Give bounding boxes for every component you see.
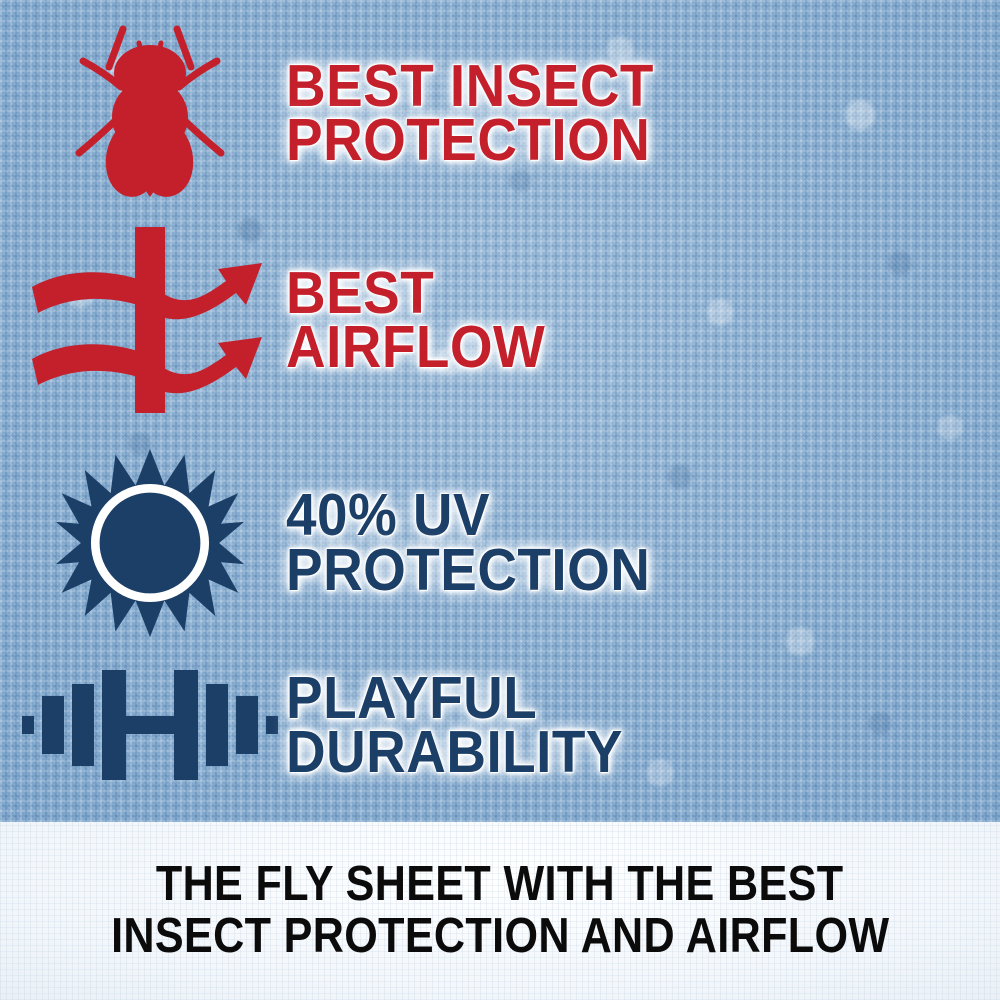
airflow-arrows-icon: [30, 225, 270, 415]
feature-text-cell: 40% UV PROTECTION: [286, 488, 678, 597]
feature-headline-line2: DURABILITY: [286, 725, 623, 779]
feature-headline-line2: PROTECTION: [286, 543, 650, 597]
feature-row-insect-protection: BEST INSECT PROTECTION: [0, 18, 1000, 208]
feature-row-best-airflow: BEST AIRFLOW: [0, 222, 1000, 418]
feature-headline-line2: AIRFLOW: [286, 320, 545, 374]
feature-headline-line1: BEST: [286, 266, 545, 320]
feature-text-cell: PLAYFUL DURABILITY: [286, 671, 648, 780]
bottom-tagline-banner: THE FLY SHEET WITH THE BEST INSECT PROTE…: [0, 822, 1000, 1000]
feature-icon-cell: [0, 21, 300, 206]
sun-burst-icon: [54, 447, 246, 639]
dumbbell-icon: [20, 666, 280, 784]
product-feature-infographic: BEST INSECT PROTECTION: [0, 0, 1000, 1000]
feature-row-uv-protection: 40% UV PROTECTION: [0, 440, 1000, 645]
feature-headline-line2: PROTECTION: [286, 113, 654, 167]
feature-icon-cell: [0, 225, 300, 415]
fly-icon: [65, 21, 235, 206]
feature-row-playful-durability: PLAYFUL DURABILITY: [0, 650, 1000, 800]
banner-line1: THE FLY SHEET WITH THE BEST: [156, 859, 844, 911]
feature-headline-line1: 40% UV: [286, 488, 650, 542]
feature-icon-cell: [0, 666, 300, 784]
banner-line2: INSECT PROTECTION AND AIRFLOW: [111, 911, 889, 963]
feature-text-cell: BEST INSECT PROTECTION: [286, 59, 682, 168]
feature-headline-line1: PLAYFUL: [286, 671, 623, 725]
feature-text-cell: BEST AIRFLOW: [286, 266, 565, 375]
feature-icon-cell: [0, 447, 300, 639]
feature-headline-line1: BEST INSECT: [286, 59, 654, 113]
